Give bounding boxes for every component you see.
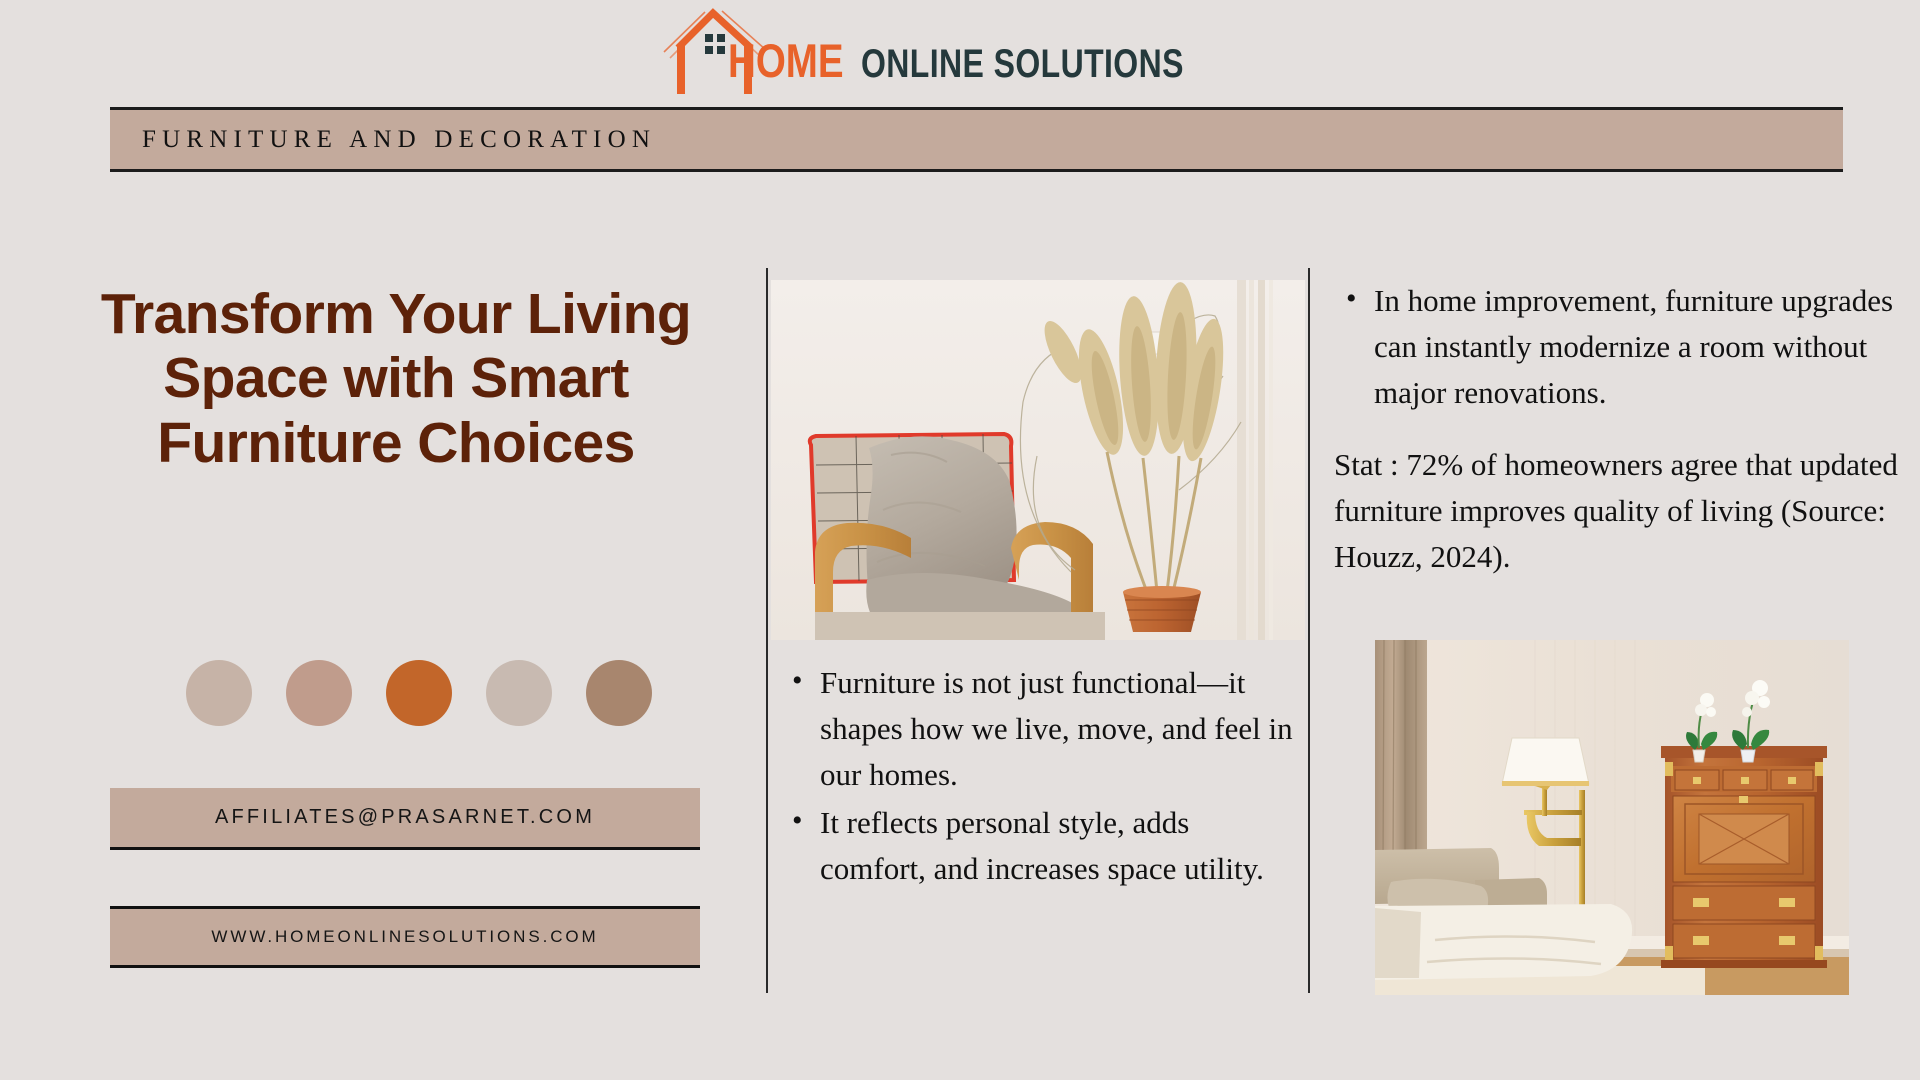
- list-item: Furniture is not just functional—it shap…: [786, 660, 1296, 798]
- category-banner: FURNITURE AND DECORATION: [110, 107, 1843, 172]
- divider-right: [1308, 268, 1310, 993]
- divider-left: [766, 268, 768, 993]
- logo-text-online-solutions: ONLINE SOLUTIONS: [861, 42, 1184, 87]
- logo-text-home: HOME: [728, 33, 844, 88]
- email-bar[interactable]: AFFILIATES@PRASARNET.COM: [110, 788, 700, 850]
- armchair-photo: [771, 280, 1305, 640]
- stat-paragraph: Stat : 72% of homeowners agree that upda…: [1334, 442, 1904, 580]
- brand-logo: HOME ONLINE SOLUTIONS: [0, 6, 1920, 94]
- living-room-photo: [1375, 640, 1849, 995]
- list-item: It reflects personal style, adds comfort…: [786, 800, 1296, 892]
- swatch-brown: [586, 660, 652, 726]
- category-banner-label: FURNITURE AND DECORATION: [142, 126, 656, 154]
- right-bullet-list: In home improvement, furniture upgrades …: [1340, 278, 1900, 418]
- swatch-light-taupe: [186, 660, 252, 726]
- color-palette: [186, 660, 652, 726]
- email-text: AFFILIATES@PRASARNET.COM: [215, 806, 595, 829]
- website-bar[interactable]: WWW.HOMEONLINESOLUTIONS.COM: [110, 906, 700, 968]
- swatch-orange: [386, 660, 452, 726]
- list-item: In home improvement, furniture upgrades …: [1340, 278, 1900, 416]
- page-title: Transform Your Living Space with Smart F…: [96, 282, 696, 475]
- middle-bullet-list: Furniture is not just functional—it shap…: [786, 660, 1296, 893]
- swatch-pale-taupe: [486, 660, 552, 726]
- slide-canvas: HOME ONLINE SOLUTIONS FURNITURE AND DECO…: [0, 0, 1920, 1080]
- swatch-rosy-taupe: [286, 660, 352, 726]
- website-text: WWW.HOMEONLINESOLUTIONS.COM: [211, 927, 598, 947]
